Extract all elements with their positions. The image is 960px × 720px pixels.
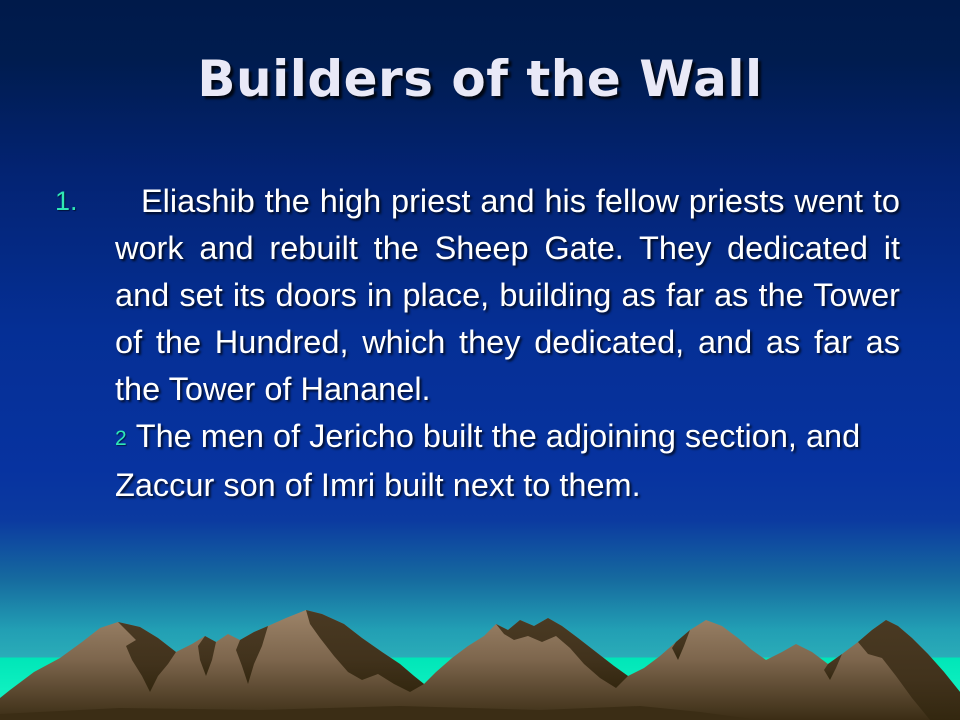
list-item-text: Eliashib the high priest and his fellow … (115, 178, 900, 509)
presentation-slide: Builders of the Wall 1. Eliashib the hig… (0, 0, 960, 720)
paragraph-verse-1-text: Eliashib the high priest and his fellow … (115, 183, 900, 407)
slide-title: Builders of the Wall (0, 50, 960, 108)
list-item-number: 1. (55, 178, 115, 225)
mountain-landscape-graphic (0, 580, 960, 720)
slide-body: 1. Eliashib the high priest and his fell… (55, 178, 900, 509)
paragraph-verse-2-text: The men of Jericho built the adjoining s… (115, 418, 860, 503)
verse-number-marker: 2 (115, 427, 127, 450)
list-item: 1. Eliashib the high priest and his fell… (55, 178, 900, 509)
paragraph-verse-2: 2 The men of Jericho built the adjoining… (115, 413, 900, 509)
paragraph-verse-1: Eliashib the high priest and his fellow … (115, 178, 900, 413)
mountain-range-illustration (0, 580, 960, 720)
